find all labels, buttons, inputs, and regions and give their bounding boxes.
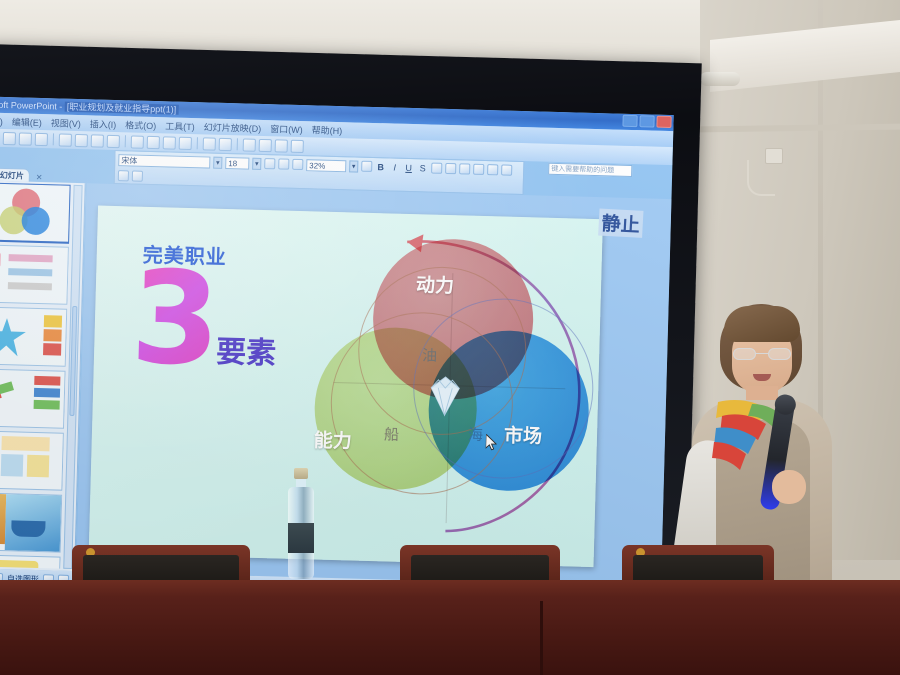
slides-pane[interactable]: 大纲 幻灯片 ✕ 3 xyxy=(0,180,86,571)
numbering-icon[interactable] xyxy=(473,164,484,175)
bullets-icon[interactable] xyxy=(487,164,498,175)
close-pane-icon[interactable]: ✕ xyxy=(36,173,43,182)
pane-tabs[interactable]: 大纲 幻灯片 ✕ xyxy=(0,166,43,182)
undo-icon[interactable] xyxy=(203,137,216,150)
increase-font-icon[interactable] xyxy=(264,158,275,169)
bottle-label xyxy=(288,523,314,553)
font-color-icon[interactable] xyxy=(132,170,143,181)
minimize-button[interactable] xyxy=(622,115,637,127)
permission-icon[interactable] xyxy=(35,132,48,145)
menu-item-slideshow[interactable]: 幻灯片放映(D) xyxy=(204,120,262,135)
thumbnail-item[interactable] xyxy=(0,368,66,429)
diamond-icon xyxy=(421,374,468,417)
spellcheck-icon[interactable] xyxy=(91,134,104,147)
increase-indent-icon[interactable] xyxy=(501,164,512,175)
copy-icon[interactable] xyxy=(147,135,160,148)
projection-screen: Microsoft PowerPoint - [职业规划及就业指导ppt(1)]… xyxy=(0,44,702,564)
help-icon[interactable] xyxy=(361,161,372,172)
redo-icon[interactable] xyxy=(219,137,232,150)
glasses-bridge xyxy=(756,353,768,354)
venn-label-dongli: 动力 xyxy=(416,270,455,298)
research-icon[interactable] xyxy=(107,134,120,147)
restore-button[interactable] xyxy=(639,115,654,127)
powerpoint-window: Microsoft PowerPoint - [职业规划及就业指导ppt(1)]… xyxy=(0,96,674,621)
menu-item-format[interactable]: 格式(O) xyxy=(125,118,156,132)
mail-icon[interactable] xyxy=(19,132,32,145)
presenter-fringe xyxy=(724,306,800,342)
toolbar-separator xyxy=(237,138,238,150)
shadow-button[interactable]: S xyxy=(417,163,428,173)
tab-slides[interactable]: 幻灯片 xyxy=(0,168,30,182)
align-left-icon[interactable] xyxy=(431,163,442,174)
slide-edit-area[interactable]: 完美职业 3 要素 xyxy=(76,183,671,587)
align-center-icon[interactable] xyxy=(445,163,456,174)
conference-table xyxy=(0,580,900,675)
slide-subtitle-text: 要素 xyxy=(216,327,277,373)
glasses-lens-right xyxy=(768,348,791,360)
font-size-input[interactable]: 18 xyxy=(225,156,249,169)
thumbnail-item[interactable] xyxy=(0,492,62,553)
toolbar-separator xyxy=(197,137,198,149)
venn-label-shichang: 市场 xyxy=(504,421,543,449)
underline-button[interactable]: U xyxy=(403,162,414,172)
presenter-hand-right xyxy=(772,470,806,504)
document-title: [职业规划及就业指导ppt(1)] xyxy=(65,102,179,115)
table-seam xyxy=(540,601,543,675)
thumbnail-item[interactable] xyxy=(0,244,69,305)
menu-item-tools[interactable]: 工具(T) xyxy=(165,119,195,133)
slide-big-number: 3 xyxy=(129,255,221,385)
wall-pipe xyxy=(700,72,740,86)
thumbnail-list[interactable]: 3 xyxy=(0,182,71,569)
help-search-input[interactable]: 键入需要帮助的问题 xyxy=(548,163,632,177)
toolbar-separator xyxy=(125,135,126,147)
print-icon[interactable] xyxy=(59,133,72,146)
window-controls[interactable] xyxy=(622,115,671,128)
zoom-input[interactable]: 32% xyxy=(306,159,346,172)
thumbnail-item[interactable]: 3 xyxy=(0,182,71,243)
venn-label-nengli: 能力 xyxy=(313,425,352,453)
app-title: Microsoft PowerPoint - xyxy=(0,99,65,112)
insert-chart-icon[interactable] xyxy=(243,138,256,151)
hyperlink-icon[interactable] xyxy=(275,139,288,152)
thumbnail-item[interactable] xyxy=(0,306,67,367)
close-button[interactable] xyxy=(656,116,671,128)
slide-canvas[interactable]: 完美职业 3 要素 xyxy=(89,206,603,568)
print-preview-icon[interactable] xyxy=(75,133,88,146)
menu-item-insert[interactable]: 插入(I) xyxy=(90,117,117,131)
font-name-input[interactable]: 宋体 xyxy=(118,154,210,168)
screenshot-root: Microsoft PowerPoint - [职业规划及就业指导ppt(1)]… xyxy=(0,0,900,675)
italic-button[interactable]: I xyxy=(389,162,400,172)
glasses-icon xyxy=(733,348,791,360)
save-icon[interactable] xyxy=(3,131,16,144)
menu-item-edit[interactable]: 编辑(E) xyxy=(12,115,42,129)
mouse-cursor-icon xyxy=(486,434,497,450)
bottle-cap xyxy=(294,468,308,479)
thumbnail-item[interactable] xyxy=(0,430,64,491)
format-painter-icon[interactable] xyxy=(179,136,192,149)
font-name-dropdown-icon[interactable]: ▾ xyxy=(213,156,222,168)
paste-icon[interactable] xyxy=(163,136,176,149)
venn-intersection-hai: 海 xyxy=(468,424,484,445)
pane-scroll-thumb[interactable] xyxy=(69,306,77,416)
zoom-dropdown-icon[interactable]: ▾ xyxy=(349,160,358,172)
glasses-lens-left xyxy=(733,348,756,360)
water-bottle xyxy=(288,469,314,579)
color-scheme-icon[interactable] xyxy=(292,159,303,170)
insert-table-icon[interactable] xyxy=(259,138,272,151)
menu-item-help[interactable]: 帮助(H) xyxy=(312,123,343,137)
font-size-dropdown-icon[interactable]: ▾ xyxy=(252,157,261,169)
menu-item-window[interactable]: 窗口(W) xyxy=(270,122,303,136)
cut-icon[interactable] xyxy=(131,135,144,148)
decrease-indent-icon[interactable] xyxy=(118,170,129,181)
menu-item-view[interactable]: 视图(V) xyxy=(51,116,81,130)
thumbnail-item[interactable] xyxy=(0,554,61,569)
decrease-font-icon[interactable] xyxy=(278,158,289,169)
toolbar-separator xyxy=(53,133,54,145)
align-right-icon[interactable] xyxy=(459,163,470,174)
show-formatting-icon[interactable] xyxy=(291,139,304,152)
menu-item-file[interactable]: 文件(F) xyxy=(0,114,3,128)
venn-intersection-chuan: 船 xyxy=(384,423,400,444)
projector-freeze-overlay: 静止 xyxy=(598,209,643,238)
bold-button[interactable]: B xyxy=(375,162,386,172)
hanging-cord xyxy=(747,160,775,196)
venn-intersection-you: 油 xyxy=(422,344,438,365)
venn-diagram[interactable]: 动力 能力 市场 油 船 海 xyxy=(305,229,591,536)
